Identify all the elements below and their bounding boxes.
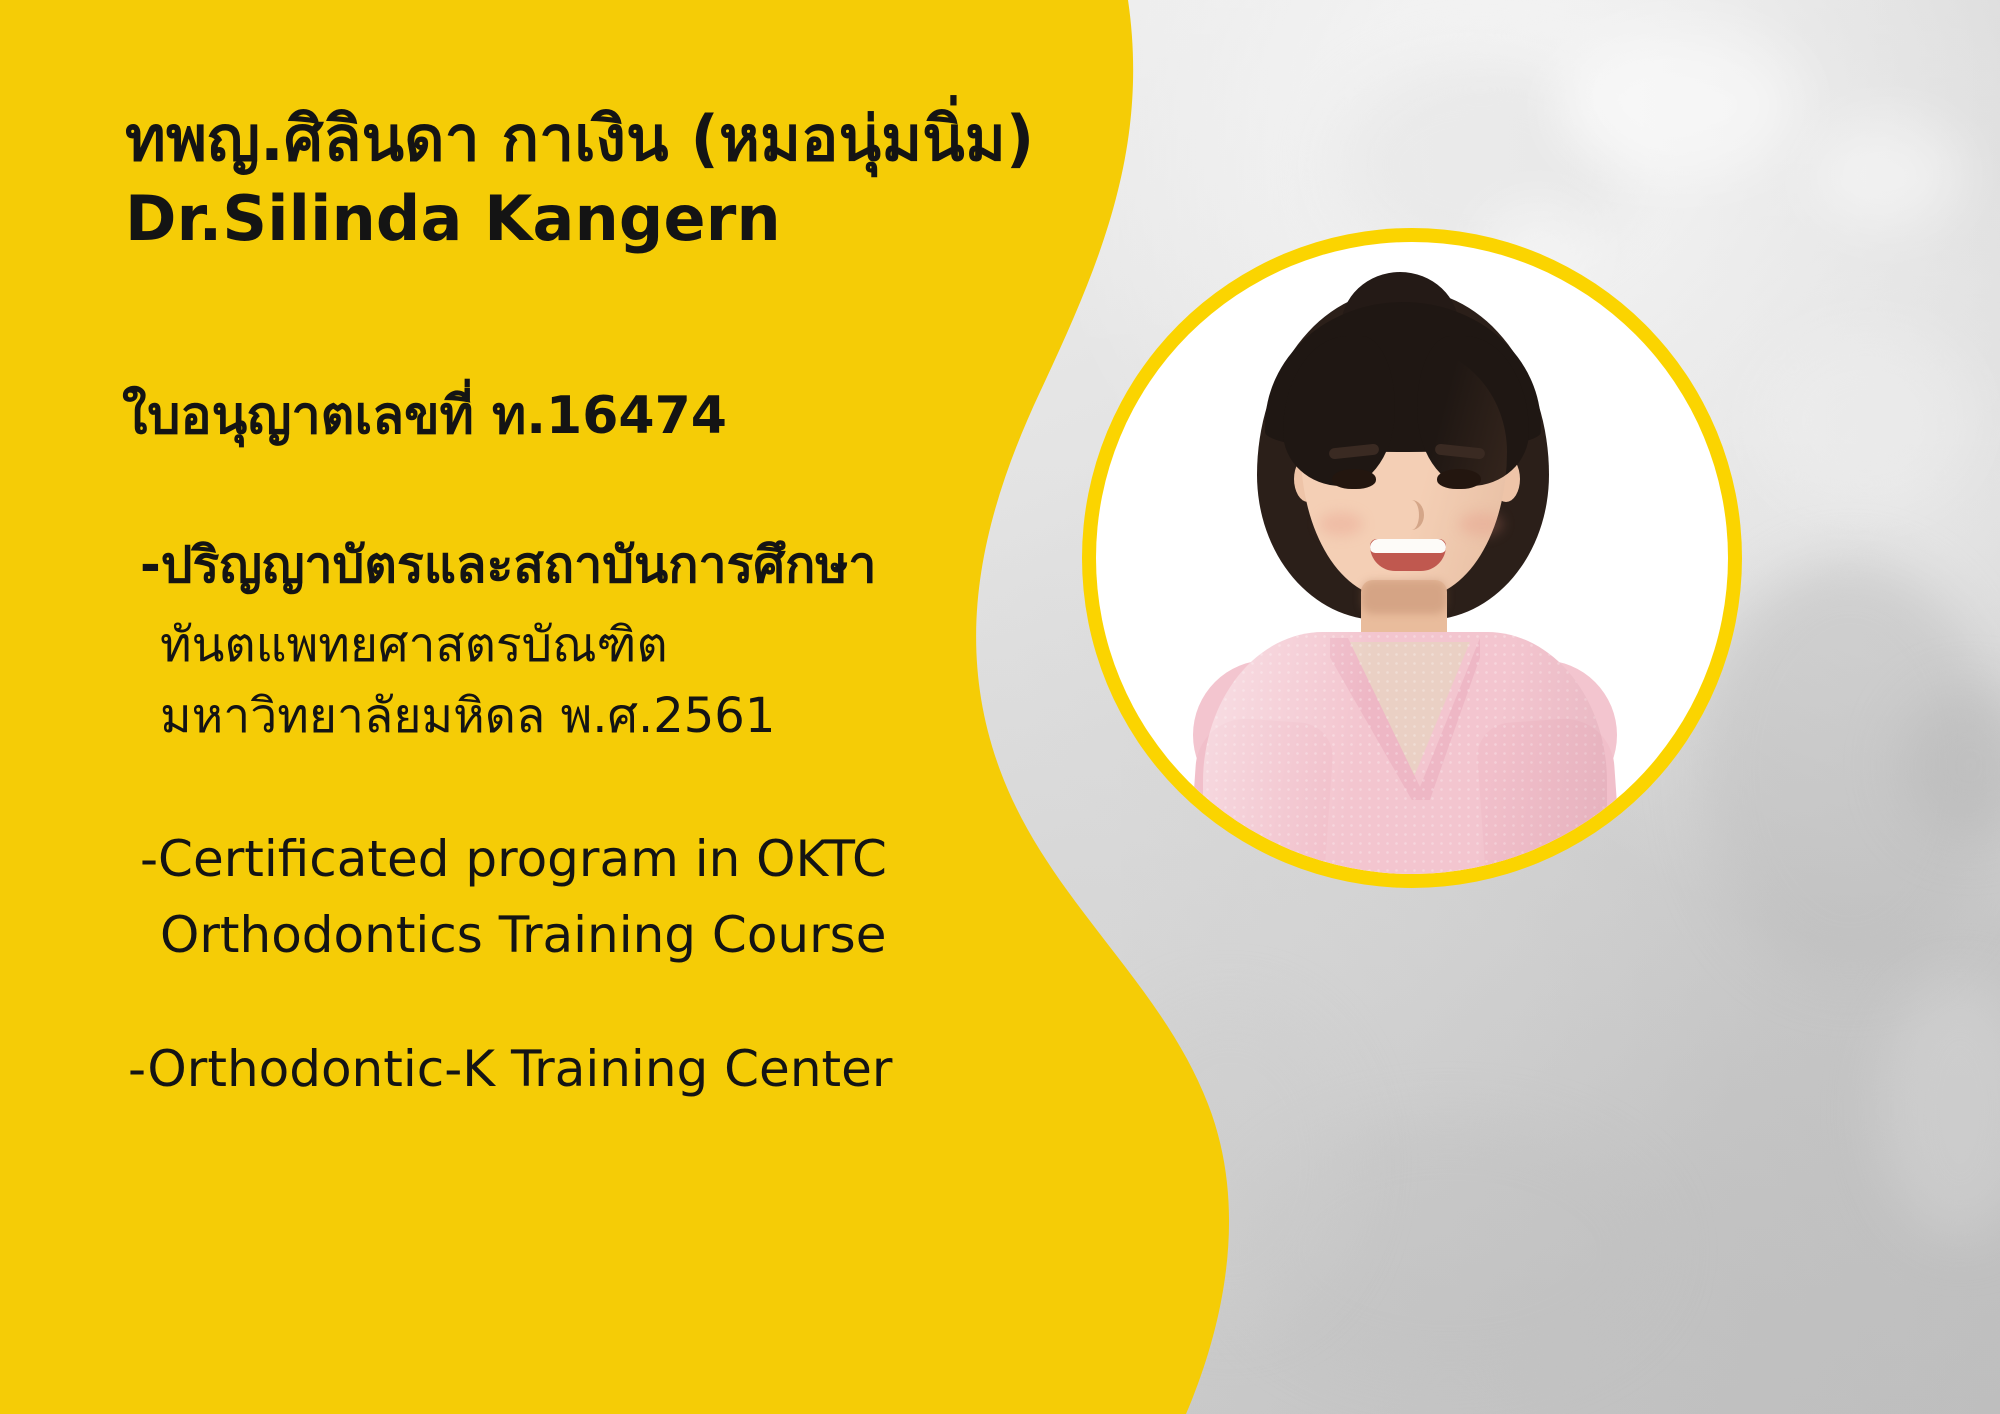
education-heading: -ปริญญาบัตรและสถาบันการศึกษา	[140, 526, 876, 605]
neck-shadow	[1361, 580, 1447, 614]
cheek-right	[1459, 512, 1503, 536]
doctor-name-thai: ทพญ.ศิลินดา กาเงิน (หมอนุ่มนิ่ม)	[125, 90, 1034, 188]
smiling-mouth	[1370, 539, 1446, 571]
eye-right	[1437, 469, 1481, 489]
education-degree: ทันตแพทยศาสตรบัณฑิต	[160, 607, 668, 683]
certificate-line-1: -Certificated program in OKTC	[140, 830, 887, 888]
eye-left	[1332, 469, 1376, 489]
profile-card: ทพญ.ศิลินดา กาเงิน (หมอนุ่มนิ่ม) Dr.Sili…	[0, 0, 2000, 1414]
training-center-line: -Orthodontic-K Training Center	[128, 1040, 892, 1098]
teeth	[1370, 539, 1446, 553]
education-university: มหาวิทยาลัยมหิดล พ.ศ.2561	[160, 678, 775, 754]
cheek-left	[1319, 512, 1363, 536]
doctor-name-english: Dr.Silinda Kangern	[125, 182, 781, 255]
certificate-line-2: Orthodontics Training Course	[160, 906, 887, 964]
license-number: ใบอนุญาตเลขที่ ท.16474	[122, 373, 727, 456]
profile-text-column: ทพญ.ศิลินดา กาเงิน (หมอนุ่มนิ่ม) Dr.Sili…	[0, 0, 1100, 1414]
nose	[1399, 500, 1424, 530]
